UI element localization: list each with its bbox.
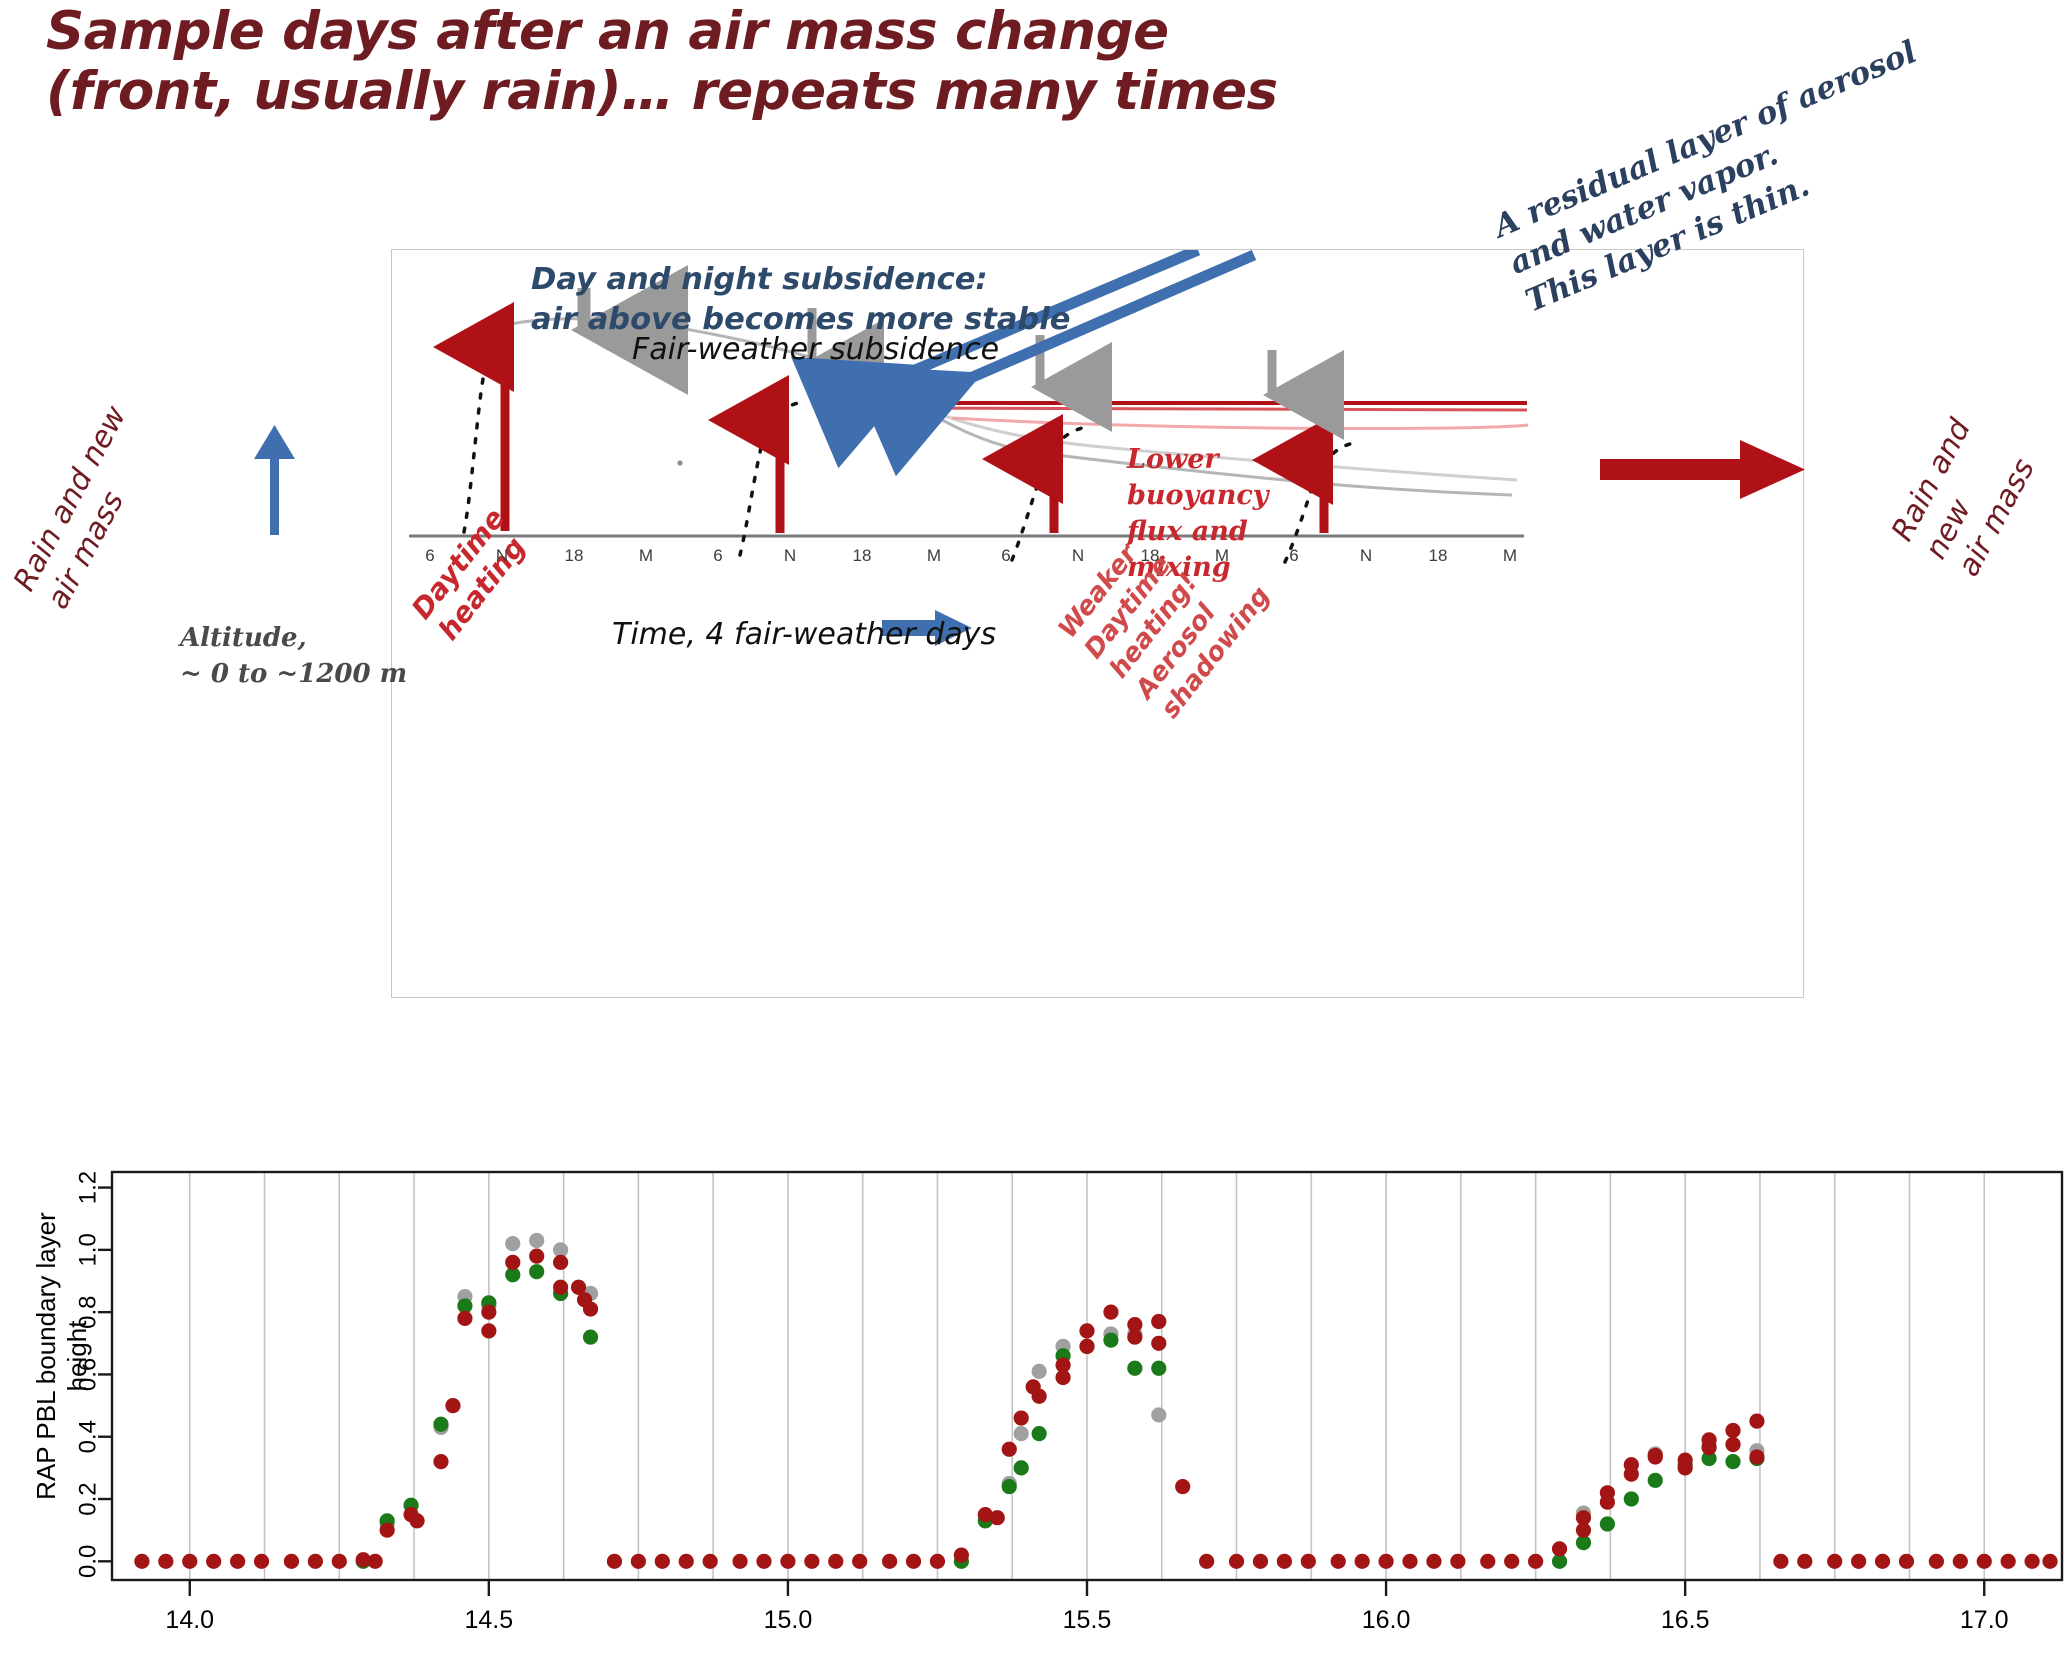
data-point-run-red-75 [1600,1495,1615,1510]
data-point-run-red-98 [2024,1554,2039,1569]
data-point-run-red-11 [380,1523,395,1538]
pbl-growth-day3 [1012,428,1082,560]
data-point-run-red-85 [1725,1437,1740,1452]
data-point-run-red-22 [553,1280,568,1295]
schematic-tick-5: N [784,546,796,566]
data-point-run-green-27 [1725,1454,1740,1469]
data-point-run-red-69 [1504,1554,1519,1569]
series-run-gray [380,1233,1765,1532]
series-run-red [134,1248,2057,1568]
label-day-night-subsidence: Day and night subsidence: air above beco… [531,260,1070,339]
pbl-growth-day4 [1285,444,1350,562]
data-point-run-red-59 [1253,1554,1268,1569]
data-point-run-red-27 [631,1554,646,1569]
data-point-run-red-13 [409,1513,424,1528]
data-point-run-red-25 [583,1301,598,1316]
data-point-run-red-1 [158,1554,173,1569]
xtick-label-3: 15.5 [1063,1606,1112,1634]
data-point-run-red-38 [906,1554,921,1569]
data-point-run-red-37 [882,1554,897,1569]
annotation-rain-new-air-mass-left: Rain and new air mass [6,400,168,615]
schematic-tick-10: 18 [1141,546,1160,566]
data-point-run-red-44 [1014,1410,1029,1425]
data-point-run-red-57 [1199,1554,1214,1569]
data-point-run-red-15 [445,1398,460,1413]
data-point-run-red-91 [1851,1554,1866,1569]
residual-layer-line-2 [910,408,1527,410]
xtick-label-6: 17.0 [1960,1606,2009,1634]
slide-page: Sample days after an air mass change (fr… [0,0,2067,1670]
pbl-growth-day1 [464,329,498,532]
data-point-run-red-18 [481,1323,496,1338]
data-point-run-red-64 [1378,1554,1393,1569]
data-point-run-gray-15 [1151,1407,1166,1422]
data-point-run-red-86 [1749,1414,1764,1429]
label-time-axis: Time, 4 fair-weather days [612,617,996,652]
data-point-run-red-3 [206,1554,221,1569]
data-point-run-red-26 [607,1554,622,1569]
series-run-green [356,1264,1765,1569]
data-point-run-red-70 [1528,1554,1543,1569]
pbl-height-scatter-chart: 0.00.20.40.60.81.01.214.014.515.015.516.… [0,1150,2067,1670]
data-point-run-green-17 [1103,1333,1118,1348]
pbl-growth-day2 [740,403,798,555]
ytick-label-0: 0.0 [75,1545,102,1578]
data-point-run-red-97 [2001,1554,2016,1569]
data-point-run-red-14 [433,1454,448,1469]
data-point-run-red-46 [1032,1389,1047,1404]
schematic-tick-4: 6 [713,546,722,566]
schematic-tick-13: N [1360,546,1372,566]
data-point-run-red-50 [1079,1339,1094,1354]
data-point-run-red-48 [1055,1370,1070,1385]
data-point-run-red-81 [1678,1452,1693,1467]
data-point-run-red-79 [1648,1449,1663,1464]
data-point-run-red-19 [505,1255,520,1270]
xtick-label-5: 16.5 [1661,1606,1710,1634]
data-point-run-gray-5 [529,1233,544,1248]
chart-y-axis-label: RAP PBL boundary layer height [31,1176,93,1536]
data-point-run-green-22 [1600,1516,1615,1531]
data-point-run-red-61 [1301,1554,1316,1569]
data-point-run-red-53 [1127,1317,1142,1332]
annotation-rain-new-air-mass-right: Rain and new air mass [1884,368,2067,582]
data-point-run-gray-4 [505,1236,520,1251]
data-point-run-red-43 [1002,1442,1017,1457]
data-point-run-red-88 [1773,1554,1788,1569]
data-point-run-red-20 [529,1248,544,1263]
data-point-run-red-89 [1797,1554,1812,1569]
data-point-run-red-4 [230,1554,245,1569]
data-point-run-red-42 [990,1510,1005,1525]
data-point-run-red-96 [1977,1554,1992,1569]
data-point-run-red-73 [1576,1523,1591,1538]
xtick-label-0: 14.0 [165,1606,214,1634]
data-point-run-red-5 [254,1554,269,1569]
data-point-run-red-33 [780,1554,795,1569]
schematic-tick-6: 18 [853,546,872,566]
data-point-run-red-8 [332,1554,347,1569]
data-point-run-red-49 [1079,1323,1094,1338]
schematic-tick-12: 6 [1289,546,1298,566]
schematic-tick-2: 18 [565,546,584,566]
data-point-run-red-83 [1701,1440,1716,1455]
data-point-run-red-10 [368,1554,383,1569]
schematic-tick-1: N [496,546,508,566]
data-point-run-red-7 [308,1554,323,1569]
data-point-run-red-28 [655,1554,670,1569]
xtick-label-4: 16.0 [1362,1606,1411,1634]
data-point-run-red-58 [1229,1554,1244,1569]
data-point-run-red-16 [457,1311,472,1326]
data-point-run-red-84 [1725,1423,1740,1438]
data-point-run-green-24 [1648,1473,1663,1488]
data-point-run-red-30 [703,1554,718,1569]
xtick-label-2: 15.0 [764,1606,813,1634]
data-point-run-red-21 [553,1255,568,1270]
data-point-run-red-0 [134,1554,149,1569]
xtick-label-1: 14.5 [465,1606,514,1634]
page-title: Sample days after an air mass change (fr… [46,2,1396,123]
data-point-run-red-55 [1151,1336,1166,1351]
data-point-run-red-34 [804,1554,819,1569]
data-point-run-red-39 [930,1554,945,1569]
data-point-run-red-66 [1426,1554,1441,1569]
data-point-run-red-62 [1331,1554,1346,1569]
data-point-run-red-93 [1899,1554,1914,1569]
chart-canvas: 0.00.20.40.60.81.01.214.014.515.015.516.… [0,1150,2067,1670]
label-fair-weather-subsidence: Fair-weather subsidence [632,332,999,367]
data-point-run-red-67 [1450,1554,1465,1569]
stray-dot [677,460,682,465]
data-point-run-red-35 [828,1554,843,1569]
data-point-run-red-6 [284,1554,299,1569]
data-point-run-red-51 [1103,1305,1118,1320]
data-point-run-red-71 [1552,1541,1567,1556]
schematic-tick-15: M [1503,546,1517,566]
data-point-run-red-92 [1875,1554,1890,1569]
data-point-run-red-60 [1277,1554,1292,1569]
data-point-run-red-56 [1175,1479,1190,1494]
data-point-run-green-12 [1002,1479,1017,1494]
data-point-run-red-31 [732,1554,747,1569]
data-point-run-red-54 [1151,1314,1166,1329]
residual-layer-line-3 [952,418,1528,429]
schematic-tick-14: 18 [1429,546,1448,566]
data-point-run-red-63 [1355,1554,1370,1569]
data-point-run-red-90 [1827,1554,1842,1569]
data-point-run-green-7 [529,1264,544,1279]
data-point-run-red-77 [1624,1467,1639,1482]
altitude-up-arrow [250,425,300,535]
data-point-run-red-94 [1929,1554,1944,1569]
data-point-run-red-87 [1749,1449,1764,1464]
data-point-run-gray-10 [1014,1426,1029,1441]
data-point-run-red-32 [756,1554,771,1569]
data-point-run-red-17 [481,1305,496,1320]
schematic-tick-8: 6 [1001,546,1010,566]
data-point-run-red-99 [2042,1554,2057,1569]
schematic-tick-7: M [927,546,941,566]
schematic-tick-11: M [1215,546,1229,566]
schematic-tick-labels: 6N18M6N18M6N18M6N18M [392,546,1805,576]
data-point-run-red-40 [954,1547,969,1562]
data-point-run-red-29 [679,1554,694,1569]
schematic-tick-3: M [639,546,653,566]
schematic-panel: Day and night subsidence: air above beco… [391,249,1804,998]
annotation-altitude: Altitude, ~ 0 to ~1200 m [180,620,407,693]
schematic-tick-9: N [1072,546,1084,566]
data-point-run-green-18 [1127,1361,1142,1376]
data-point-run-green-3 [433,1417,448,1432]
data-point-run-green-14 [1032,1426,1047,1441]
data-point-run-red-68 [1480,1554,1495,1569]
data-point-run-green-9 [583,1329,598,1344]
data-point-run-red-95 [1953,1554,1968,1569]
schematic-tick-0: 6 [425,546,434,566]
data-point-run-green-23 [1624,1491,1639,1506]
rain-right-arrow [1600,430,1820,510]
data-point-run-red-2 [182,1554,197,1569]
data-point-run-red-65 [1402,1554,1417,1569]
data-point-run-green-13 [1014,1460,1029,1475]
data-point-run-red-36 [852,1554,867,1569]
data-point-run-gray-11 [1032,1364,1047,1379]
data-point-run-green-19 [1151,1361,1166,1376]
